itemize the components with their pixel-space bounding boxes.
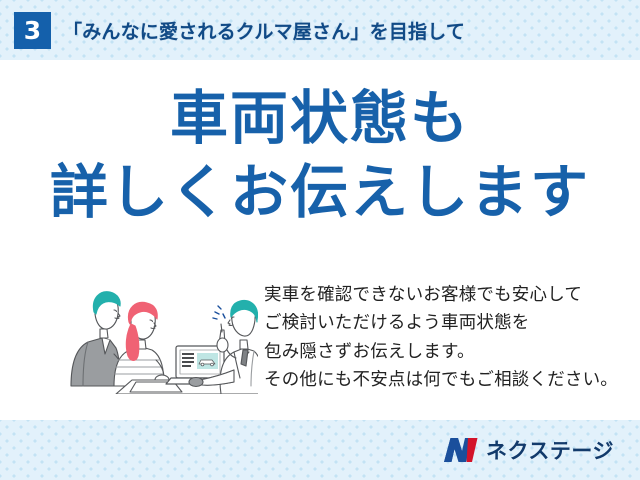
nextage-logo-text: ネクステージ xyxy=(486,435,614,465)
step-number-badge: 3 xyxy=(14,12,51,49)
description-paragraph: 実車を確認できないお客様でも安心して ご検討いただけるよう車両状態を 包み隠さず… xyxy=(264,280,640,393)
paragraph-line-4: その他にも不安点は何でもご相談ください。 xyxy=(264,365,640,393)
header-title: 「みんなに愛されるクルマ屋さん」を目指して xyxy=(63,17,465,44)
content-card: 車両状態も 詳しくお伝えします xyxy=(0,60,640,420)
consultation-illustration xyxy=(58,274,258,394)
headline-line-2: 詳しくお伝えします xyxy=(0,160,640,226)
paragraph-line-2: ご検討いただけるよう車両状態を xyxy=(264,308,640,336)
nextage-logo: ネクステージ xyxy=(443,435,614,465)
detail-row: 実車を確認できないお客様でも安心して ご検討いただけるよう車両状態を 包み隠さず… xyxy=(0,272,640,420)
headline: 車両状態も 詳しくお伝えします xyxy=(0,86,640,225)
nextage-logo-mark-icon xyxy=(443,437,479,463)
paragraph-line-1: 実車を確認できないお客様でも安心して xyxy=(264,280,640,308)
headline-line-1: 車両状態も xyxy=(0,86,640,152)
banner-header: 3 「みんなに愛されるクルマ屋さん」を目指して xyxy=(0,0,640,60)
promotional-banner: 3 「みんなに愛されるクルマ屋さん」を目指して 車両状態も 詳しくお伝えします xyxy=(0,0,640,480)
banner-footer: ネクステージ xyxy=(0,420,640,480)
paragraph-line-3: 包み隠さずお伝えします。 xyxy=(264,337,640,365)
